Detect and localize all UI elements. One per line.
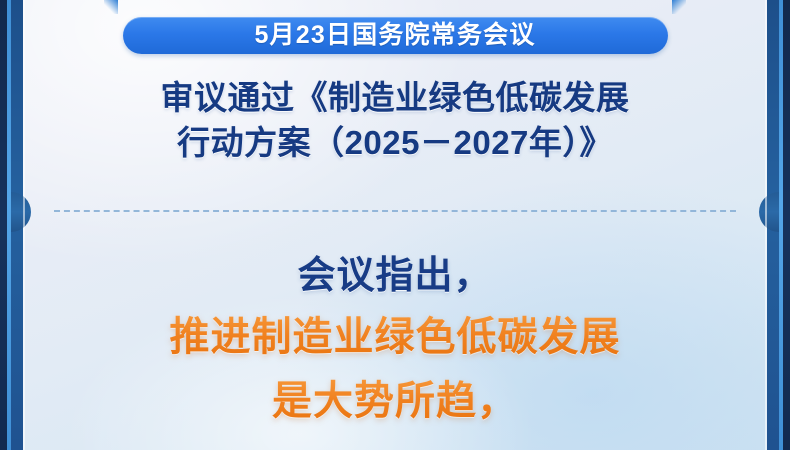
statement-line-3: 是大势所趋， — [30, 375, 760, 427]
statement-block: 会议指出， 推进制造业绿色低碳发展 是大势所趋， — [30, 252, 760, 427]
page-title: 审议通过《制造业绿色低碳发展 行动方案（2025－2027年）》 — [34, 76, 756, 166]
meeting-date-badge: 5月23日国务院常务会议 — [123, 17, 668, 54]
statement-line-1: 会议指出， — [30, 252, 760, 301]
section-divider — [54, 210, 736, 212]
left-rail-edge-highlight — [23, 0, 25, 450]
infographic-poster: 5月23日国务院常务会议 审议通过《制造业绿色低碳发展 行动方案（2025－20… — [0, 0, 790, 450]
page-title-line-1: 审议通过《制造业绿色低碳发展 — [34, 76, 756, 121]
right-rail-edge-highlight — [765, 0, 767, 450]
right-rail-navy-bar — [783, 0, 790, 450]
right-decorative-rail — [766, 0, 790, 450]
right-rail-panel — [767, 0, 779, 450]
statement-line-2: 推进制造业绿色低碳发展 — [30, 311, 760, 363]
badge-row: 5月23日国务院常务会议 — [26, 17, 764, 54]
left-rail-glow-stripe — [7, 0, 11, 450]
left-rail-panel — [11, 0, 23, 450]
right-rail-glow-stripe — [779, 0, 783, 450]
poster-content: 5月23日国务院常务会议 审议通过《制造业绿色低碳发展 行动方案（2025－20… — [26, 0, 764, 450]
left-decorative-rail — [0, 0, 24, 450]
left-rail-navy-bar — [0, 0, 7, 450]
page-title-line-2: 行动方案（2025－2027年）》 — [34, 121, 756, 166]
